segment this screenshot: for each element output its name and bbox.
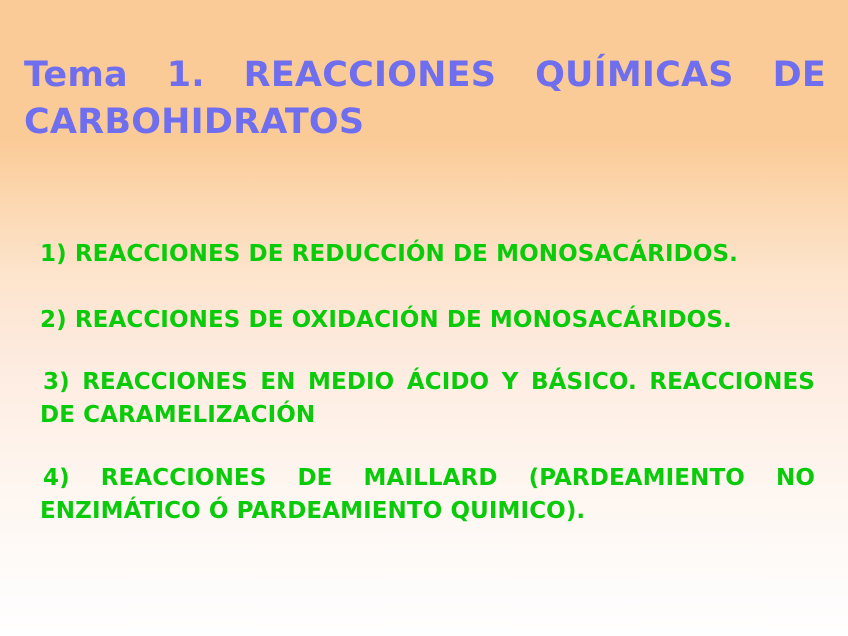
word: MAILLARD [364, 462, 498, 495]
title-word-quimicas: QUÍMICAS [535, 52, 734, 99]
word: 4) [43, 462, 70, 495]
word: ÁCIDO [407, 366, 489, 399]
word: BÁSICO. [531, 366, 637, 399]
word: MEDIO [308, 366, 394, 399]
list-item-3-line-1: 3) REACCIONES EN MEDIO ÁCIDO Y BÁSICO. R… [40, 366, 815, 399]
list-item: 1) REACCIONES DE REDUCCIÓN DE MONOSACÁRI… [40, 238, 815, 271]
word: NO [776, 462, 815, 495]
title-word-tema: Tema [24, 52, 128, 99]
list-item-3-line-2: DE CARAMELIZACIÓN [40, 399, 815, 432]
word: REACCIONES [101, 462, 267, 495]
list-item: 2) REACCIONES DE OXIDACIÓN DE MONOSACÁRI… [40, 304, 815, 337]
title-word-reacciones: REACCIONES [244, 52, 497, 99]
slide-canvas: Tema 1. REACCIONES QUÍMICAS DE CARBOHIDR… [0, 0, 848, 636]
list-item-1-line-1: 1) REACCIONES DE REDUCCIÓN DE MONOSACÁRI… [40, 238, 815, 271]
list-item-4-line-2: ENZIMÁTICO Ó PARDEAMIENTO QUIMICO). [40, 495, 815, 528]
title-line-1: Tema 1. REACCIONES QUÍMICAS DE [24, 52, 826, 99]
word: (PARDEAMIENTO [529, 462, 745, 495]
list-item-2-line-1: 2) REACCIONES DE OXIDACIÓN DE MONOSACÁRI… [40, 304, 815, 337]
word: REACCIONES [649, 366, 815, 399]
list-item: 4) REACCIONES DE MAILLARD (PARDEAMIENTO … [40, 462, 815, 528]
word: Y [502, 366, 519, 399]
list-item: 3) REACCIONES EN MEDIO ÁCIDO Y BÁSICO. R… [40, 366, 815, 432]
title-word-number: 1. [167, 52, 205, 99]
title-word-de: DE [773, 52, 826, 99]
title-line-2: CARBOHIDRATOS [24, 99, 826, 146]
agenda-list: 1) REACCIONES DE REDUCCIÓN DE MONOSACÁRI… [40, 238, 815, 528]
slide-title: Tema 1. REACCIONES QUÍMICAS DE CARBOHIDR… [24, 52, 826, 146]
word: 3) [43, 366, 70, 399]
word: REACCIONES [82, 366, 248, 399]
word: DE [297, 462, 332, 495]
word: EN [260, 366, 295, 399]
list-item-4-line-1: 4) REACCIONES DE MAILLARD (PARDEAMIENTO … [40, 462, 815, 495]
